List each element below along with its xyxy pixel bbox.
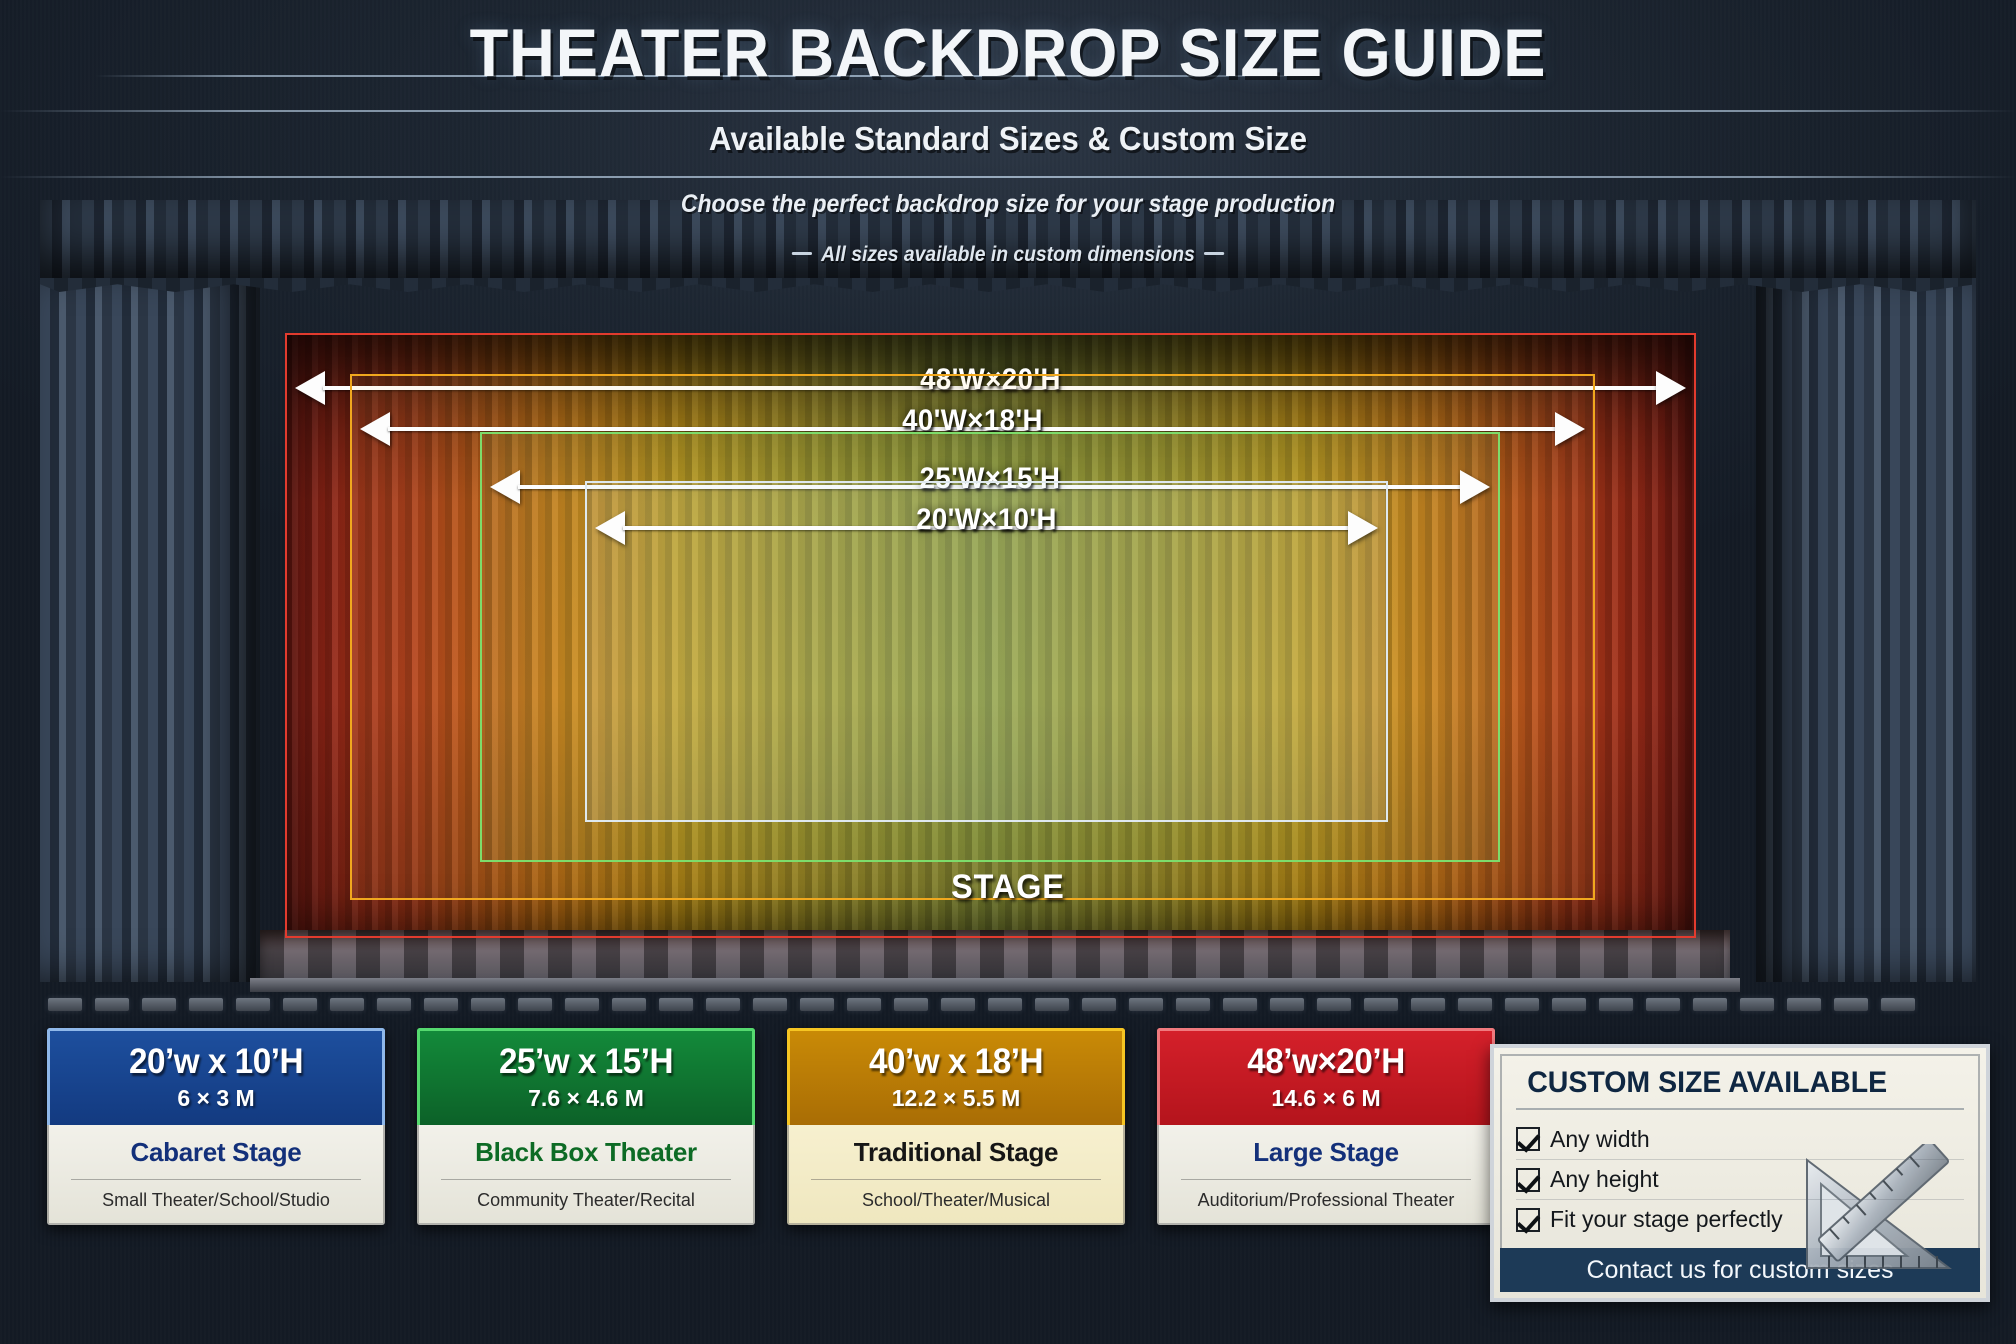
card-size-imperial: 48’w×20’H <box>1174 1042 1478 1082</box>
header-divider-low <box>0 176 2016 178</box>
footlight-lamp <box>1505 998 1539 1011</box>
footlight-lamp <box>706 998 740 1011</box>
card-divider <box>441 1179 731 1180</box>
footlight-lamp <box>1881 998 1915 1011</box>
footlight-lamp <box>612 998 646 1011</box>
footlight-lamp <box>1411 998 1445 1011</box>
footlight-lamp <box>236 998 270 1011</box>
stage-scene: THEATER BACKDROP SIZE GUIDE Available St… <box>0 0 2016 1344</box>
footlight-lamp <box>1458 998 1492 1011</box>
custom-feature-label: Any height <box>1550 1166 1659 1193</box>
size-label-20x10: 20'W×10'H <box>903 503 1070 536</box>
card-title: Large Stage <box>1167 1137 1485 1168</box>
card-size-metric: 12.2 × 5.5 M <box>796 1085 1116 1112</box>
card-header: 48’w×20’H 14.6 × 6 M <box>1157 1028 1495 1125</box>
footlight-lamp <box>941 998 975 1011</box>
footlight-lamp <box>565 998 599 1011</box>
custom-feature-fit-stage[interactable]: Fit your stage perfectly <box>1516 1199 1964 1239</box>
footlight-lamp <box>753 998 787 1011</box>
size-rect-20x10: 20'W×10'H <box>585 481 1388 822</box>
dash-left-icon <box>792 252 812 255</box>
footlight-lamp <box>189 998 223 1011</box>
footlight-lamp <box>847 998 881 1011</box>
size-card-cabaret[interactable]: 20’w x 10’H 6 × 3 M Cabaret Stage Small … <box>47 1028 385 1225</box>
custom-feature-any-width[interactable]: Any width <box>1516 1119 1964 1159</box>
card-size-imperial: 40’w x 18’H <box>804 1042 1108 1082</box>
card-title: Black Box Theater <box>427 1137 745 1168</box>
footlight-lamp <box>1129 998 1163 1011</box>
page-subtitle: Available Standard Sizes & Custom Size <box>50 120 1965 158</box>
footlight-lamp <box>1834 998 1868 1011</box>
footlight-lamp <box>988 998 1022 1011</box>
footlight-lamp <box>424 998 458 1011</box>
footlight-lamp <box>659 998 693 1011</box>
footlight-lamp <box>894 998 928 1011</box>
custom-panel-divider <box>1516 1108 1964 1110</box>
card-usage: Auditorium/Professional Theater <box>1167 1190 1485 1211</box>
arrow-right-icon <box>1555 412 1585 446</box>
page-tagline: Choose the perfect backdrop size for you… <box>81 190 1936 219</box>
footlight-lamp <box>95 998 129 1011</box>
custom-dimensions-note: All sizes available in custom dimensions <box>81 243 1936 267</box>
size-card-traditional[interactable]: 40’w x 18’H 12.2 × 5.5 M Traditional Sta… <box>787 1028 1125 1225</box>
footlight-lamp <box>48 998 82 1011</box>
footlight-lamp <box>518 998 552 1011</box>
footlight-lamp <box>1787 998 1821 1011</box>
card-body: Large Stage Auditorium/Professional Thea… <box>1157 1125 1495 1225</box>
header: THEATER BACKDROP SIZE GUIDE Available St… <box>0 0 2016 300</box>
arrow-left-icon <box>295 371 325 405</box>
card-body: Cabaret Stage Small Theater/School/Studi… <box>47 1125 385 1225</box>
footlight-lamp <box>1599 998 1633 1011</box>
card-header: 20’w x 10’H 6 × 3 M <box>47 1028 385 1125</box>
size-card-black-box[interactable]: 25’w x 15’H 7.6 × 4.6 M Black Box Theate… <box>417 1028 755 1225</box>
custom-feature-label: Any width <box>1550 1126 1650 1153</box>
footlight-lamp <box>1646 998 1680 1011</box>
footlight-lamp <box>330 998 364 1011</box>
footlight-lamp <box>1364 998 1398 1011</box>
custom-note-text: All sizes available in custom dimensions <box>821 243 1195 266</box>
card-size-imperial: 20’w x 10’H <box>64 1042 368 1082</box>
arrow-left-icon <box>490 470 520 504</box>
footlight-lamp <box>1035 998 1069 1011</box>
custom-feature-label: Fit your stage perfectly <box>1550 1206 1783 1233</box>
card-size-imperial: 25’w x 15’H <box>434 1042 738 1082</box>
card-body: Black Box Theater Community Theater/Reci… <box>417 1125 755 1225</box>
arrow-right-icon <box>1460 470 1490 504</box>
card-divider <box>811 1179 1101 1180</box>
custom-feature-any-height[interactable]: Any height <box>1516 1159 1964 1199</box>
custom-size-panel[interactable]: CUSTOM SIZE AVAILABLE Any width Any heig… <box>1490 1044 1990 1302</box>
footlight-lamp <box>377 998 411 1011</box>
checkbox-checked-icon[interactable] <box>1516 1127 1540 1151</box>
footlight-lamp <box>1740 998 1774 1011</box>
card-usage: Small Theater/School/Studio <box>57 1190 375 1211</box>
arrow-right-icon <box>1656 371 1686 405</box>
checkbox-checked-icon[interactable] <box>1516 1168 1540 1192</box>
footlight-lamp <box>471 998 505 1011</box>
card-header: 25’w x 15’H 7.6 × 4.6 M <box>417 1028 755 1125</box>
footlight-lamp <box>1693 998 1727 1011</box>
card-header: 40’w x 18’H 12.2 × 5.5 M <box>787 1028 1125 1125</box>
footlight-strip <box>48 990 1968 1018</box>
dash-right-icon <box>1204 252 1224 255</box>
footlight-lamp <box>283 998 317 1011</box>
footlight-lamp <box>1317 998 1351 1011</box>
card-size-metric: 7.6 × 4.6 M <box>426 1085 746 1112</box>
footlight-lamp <box>1552 998 1586 1011</box>
card-usage: School/Theater/Musical <box>797 1190 1115 1211</box>
footlight-lamp <box>142 998 176 1011</box>
card-body: Traditional Stage School/Theater/Musical <box>787 1125 1125 1225</box>
card-size-metric: 14.6 × 6 M <box>1166 1085 1486 1112</box>
custom-panel-title: CUSTOM SIZE AVAILABLE <box>1527 1066 1953 1100</box>
footlight-lamp <box>800 998 834 1011</box>
arrow-left-icon <box>360 412 390 446</box>
card-divider <box>1181 1179 1471 1180</box>
size-card-large[interactable]: 48’w×20’H 14.6 × 6 M Large Stage Auditor… <box>1157 1028 1495 1225</box>
header-divider-mid <box>0 110 2016 112</box>
card-divider <box>71 1179 361 1180</box>
footlight-lamp <box>1223 998 1257 1011</box>
footlight-lamp <box>1082 998 1116 1011</box>
page-title: THEATER BACKDROP SIZE GUIDE <box>71 14 1946 92</box>
card-size-metric: 6 × 3 M <box>56 1085 376 1112</box>
checkbox-checked-icon[interactable] <box>1516 1208 1540 1232</box>
card-title: Cabaret Stage <box>57 1137 375 1168</box>
footlight-lamp <box>1270 998 1304 1011</box>
footlight-lamp <box>1176 998 1210 1011</box>
card-usage: Community Theater/Recital <box>427 1190 745 1211</box>
card-title: Traditional Stage <box>797 1137 1115 1168</box>
stage-label: STAGE <box>50 868 1965 907</box>
